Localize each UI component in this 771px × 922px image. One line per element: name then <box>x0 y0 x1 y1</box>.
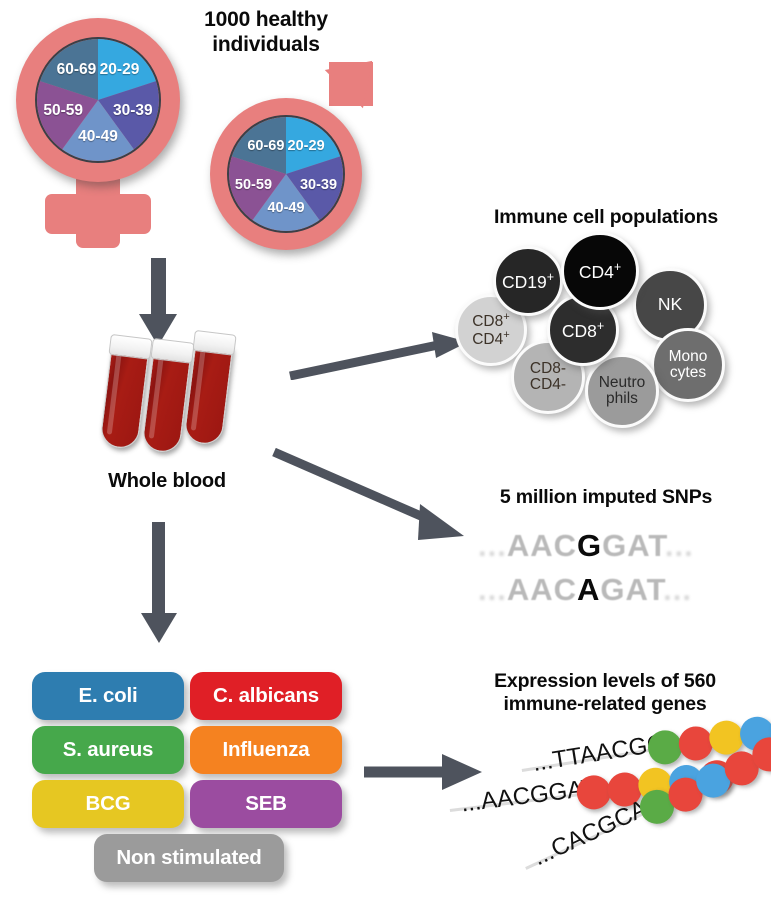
pie-slice-label-60-69: 60-69 <box>57 61 97 79</box>
bubble-label-line1: CD4+ <box>579 261 621 282</box>
bubble-label-line1: CD8+ <box>562 320 604 341</box>
arrow-cohort-to-blood-shaft <box>151 258 166 318</box>
snp-post-bases: GAT <box>600 572 663 607</box>
label-whole-blood: Whole blood <box>72 470 262 494</box>
page-title-snps: 5 million imputed SNPs <box>462 486 750 509</box>
stimulus-button-s-aureus[interactable]: S. aureus <box>32 726 184 774</box>
immune-cell-bubble-Monocytes[interactable]: Monocytes <box>651 328 725 402</box>
male-gender-symbol: 20-2930-3940-4950-5960-69 <box>196 46 411 252</box>
female-symbol-stem-horizontal <box>45 194 151 234</box>
pie-slice-label-20-29: 20-29 <box>100 61 140 79</box>
bubble-label-line1: NK <box>658 296 682 314</box>
bubble-label-line1: Neutro <box>599 375 646 391</box>
age-pie-chart-male: 20-2930-3940-4950-5960-69 <box>227 115 345 233</box>
dna-strand: ...AACGGAT <box>447 788 453 834</box>
pie-slice-label-60-69: 60-69 <box>247 138 284 154</box>
snp-pre-bases: AAC <box>507 528 577 563</box>
bubble-label-line1: CD19+ <box>502 271 554 292</box>
stimulus-button-seb[interactable]: SEB <box>190 780 342 828</box>
bubble-label-line2: phils <box>599 391 646 407</box>
pie-slice-label-20-29: 20-29 <box>288 138 325 154</box>
stimulus-button-e-coli[interactable]: E. coli <box>32 672 184 720</box>
immune-cell-bubble-CD4[interactable]: CD4+ <box>561 232 639 310</box>
female-gender-symbol: 20-2930-3940-4950-5960-69 <box>8 12 198 242</box>
snp-variant-base: A <box>577 572 600 607</box>
snp-post-bases: GAT <box>602 528 665 563</box>
pie-slice-label-40-49: 40-49 <box>267 200 304 216</box>
page-title-expression: Expression levels of 560 immune-related … <box>455 670 755 716</box>
immune-cell-bubble-Neutrophils[interactable]: Neutrophils <box>585 354 659 428</box>
pie-slice-label-30-39: 30-39 <box>113 102 153 120</box>
snp-prefix-ellipsis: ... <box>478 528 507 563</box>
blood-tube-body <box>99 346 149 450</box>
snp-sequence-group: ...AACGGAT... ...AACAGAT... <box>470 528 750 618</box>
snp-variant-base: G <box>577 528 602 563</box>
bubble-label-superscript: + <box>503 311 510 323</box>
bubble-label-superscript: + <box>614 260 621 274</box>
bubble-label-line1: CD8- <box>530 361 566 377</box>
pie-slice-label-30-39: 30-39 <box>300 177 337 193</box>
arrow-blood-to-stimuli-head <box>141 613 177 643</box>
snp-sequence-row: ...AACGGAT... <box>478 528 694 564</box>
arrow-blood-to-immune <box>288 332 470 380</box>
snp-pre-bases: AAC <box>507 572 577 607</box>
snp-suffix-ellipsis: ... <box>663 572 692 607</box>
stimulus-button-c-albicans[interactable]: C. albicans <box>190 672 342 720</box>
bubble-label-line1: CD8+ <box>472 312 510 330</box>
gene-expression-strands: ...TTAACGG...AACGGAT...CACGCAA <box>450 748 760 908</box>
bubble-label-line2: CD4- <box>530 377 566 393</box>
arrow-blood-to-stimuli-shaft <box>152 522 165 620</box>
age-pie-chart-female: 20-2930-3940-4950-5960-69 <box>35 37 161 163</box>
bubble-label-superscript: + <box>547 270 554 284</box>
pie-slice-label-40-49: 40-49 <box>78 128 118 146</box>
bubble-label-line2: cytes <box>669 365 708 381</box>
bubble-label-line2: CD4+ <box>472 330 510 348</box>
arrow-blood-to-snp <box>272 448 470 548</box>
snp-prefix-ellipsis: ... <box>478 572 507 607</box>
bubble-label-superscript: + <box>597 319 604 333</box>
bubble-label-line1: Mono <box>669 349 708 365</box>
whole-blood-tubes <box>100 330 260 460</box>
dna-strand: ...CACGCAA <box>516 848 535 890</box>
diagram-canvas: 1000 healthy individuals 20-2930-3940-49… <box>0 0 771 922</box>
pie-slice-label-50-59: 50-59 <box>43 102 83 120</box>
stimulus-button-bcg[interactable]: BCG <box>32 780 184 828</box>
immune-cell-bubble-cluster: CD8+CD4+CD8-CD4-NKMonocytesNeutrophilsCD… <box>455 232 755 432</box>
snp-sequence-row: ...AACAGAT... <box>478 572 692 608</box>
snp-suffix-ellipsis: ... <box>665 528 694 563</box>
pie-slice-label-50-59: 50-59 <box>235 177 272 193</box>
bubble-label-superscript: + <box>503 329 510 341</box>
page-title-immune-cells: Immune cell populations <box>462 206 750 229</box>
stimulus-button-non-stimulated[interactable]: Non stimulated <box>94 834 284 882</box>
stimulus-button-influenza[interactable]: Influenza <box>190 726 342 774</box>
immune-cell-bubble-CD19[interactable]: CD19+ <box>493 246 563 316</box>
stimuli-panel: E. coliC. albicansS. aureusInfluenzaBCGS… <box>32 672 352 902</box>
